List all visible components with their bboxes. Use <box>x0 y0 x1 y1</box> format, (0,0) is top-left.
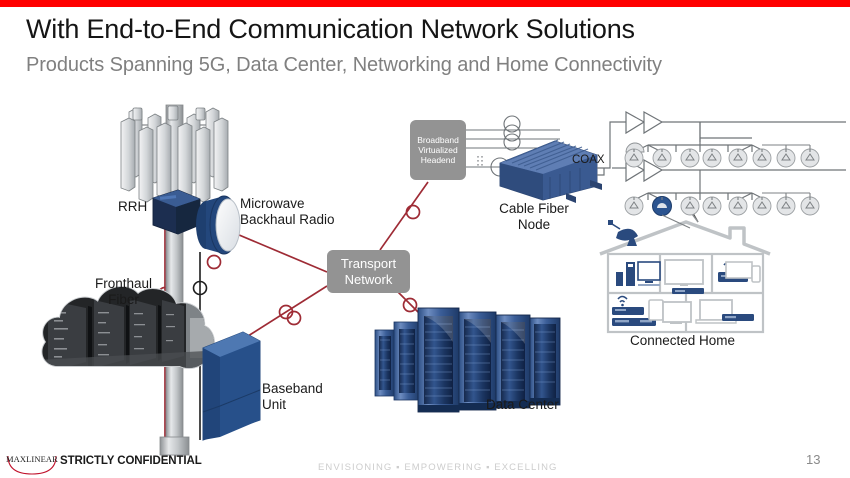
home-device-set-top-box-lower <box>722 314 754 321</box>
label-fronthaul-fiber: Fronthaul Fiber <box>95 276 152 308</box>
hfc-distribution <box>597 112 846 200</box>
label-microwave-backhaul-radio: Microwave Backhaul Radio <box>240 196 335 228</box>
diagram-canvas <box>0 0 850 478</box>
company-tagline: ENVISIONING ▪ EMPOWERING ▪ EXCELLING <box>318 462 558 473</box>
label-rrh: RRH <box>118 199 147 215</box>
maxlinear-logo: MAXLINEAR <box>6 452 58 476</box>
hfc-home-icons-row1 <box>626 143 644 152</box>
confidentiality-notice: STRICTLY CONFIDENTIAL <box>60 455 202 467</box>
rrh-unit <box>153 190 200 234</box>
label-cable-fiber-node: Cable Fiber Node <box>489 201 579 233</box>
box-broadband-virtualized-headend: Broadband Virtualized Headend <box>410 120 466 180</box>
maxlinear-logo-text: MAXLINEAR <box>6 454 58 464</box>
home-device-wifi-gateway-upper <box>718 262 760 282</box>
connected-home <box>600 206 770 332</box>
label-coax: COAX <box>572 152 605 168</box>
baseband-unit <box>203 332 260 440</box>
box-transport-network: Transport Network <box>327 250 410 293</box>
page-number: 13 <box>806 452 820 467</box>
satellite-dish-icon <box>608 220 638 246</box>
label-baseband-unit: Baseband Unit <box>262 381 323 413</box>
microwave-backhaul-dish <box>196 196 240 254</box>
home-device-set-top-box <box>672 288 704 294</box>
network-diagram: RRH Microwave Backhaul Radio Fronthaul F… <box>0 0 850 478</box>
label-data-center: Data Center <box>486 397 559 413</box>
slide-root: With End-to-End Communication Network So… <box>0 0 850 478</box>
link-marker <box>208 256 221 269</box>
label-connected-home: Connected Home <box>630 333 735 349</box>
home-device-tv <box>665 260 703 286</box>
label-cran: C-RAN <box>100 366 141 382</box>
home-device-desktop-pc <box>616 262 660 286</box>
home-device-tablet-and-monitor <box>649 300 691 324</box>
